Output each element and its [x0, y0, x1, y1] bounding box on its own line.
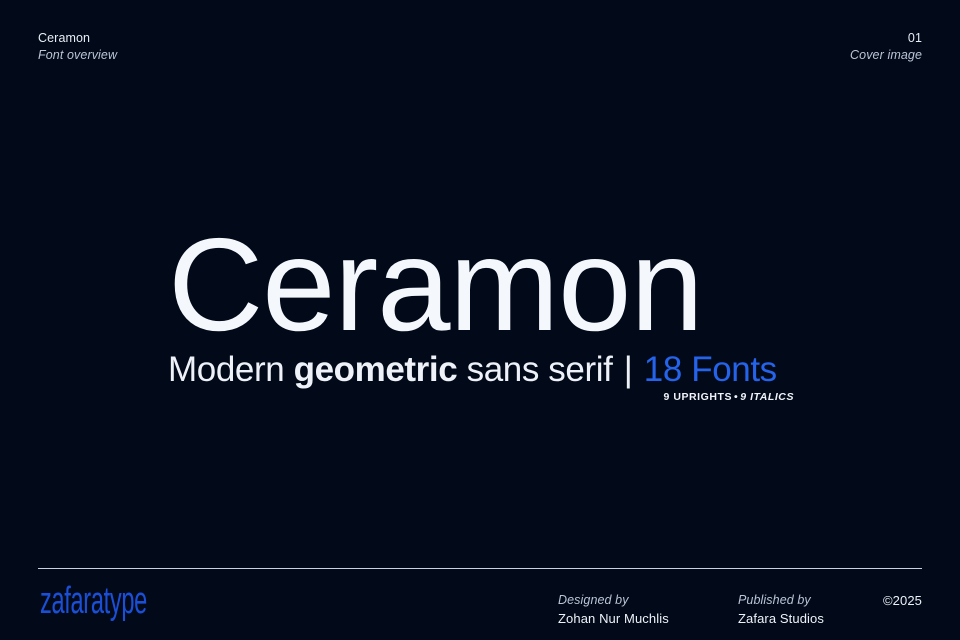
display-title: Ceramon — [168, 228, 794, 342]
header-font-subtitle: Font overview — [38, 47, 117, 64]
tagline-part2: sans serif — [457, 350, 621, 389]
credit-copyright: ©2025 — [883, 592, 922, 610]
meta-separator: • — [732, 391, 740, 403]
published-by-label: Published by — [738, 592, 883, 610]
publisher-name: Zafara Studios — [738, 610, 883, 628]
copyright-text: ©2025 — [883, 592, 922, 610]
designer-name: Zohan Nur Muchlis — [558, 610, 738, 628]
style-count-meta: 9 UPRIGHTS•9 ITALICS — [168, 391, 794, 403]
poster-canvas: Ceramon Font overview 01 Cover image Cer… — [0, 0, 960, 640]
uprights-count: 9 UPRIGHTS — [663, 391, 732, 403]
poster-header: Ceramon Font overview 01 Cover image — [38, 30, 922, 64]
zafaratype-logo[interactable]: zafaratype — [40, 582, 147, 620]
tagline-bold-word: geometric — [294, 350, 458, 389]
header-left-block: Ceramon Font overview — [38, 30, 117, 64]
page-label: Cover image — [850, 47, 922, 64]
designed-by-label: Designed by — [558, 592, 738, 610]
page-number: 01 — [850, 30, 922, 47]
poster-footer: zafaratype Designed by Zohan Nur Muchlis… — [38, 582, 922, 630]
tagline: Modern geometric sans serif | 18 Fonts — [168, 352, 794, 389]
tagline-separator: | — [622, 350, 635, 389]
tagline-font-count: 18 Fonts — [634, 350, 776, 389]
credit-designed-by: Designed by Zohan Nur Muchlis — [558, 592, 738, 628]
header-font-name: Ceramon — [38, 30, 117, 47]
header-right-block: 01 Cover image — [850, 30, 922, 64]
footer-credits: Designed by Zohan Nur Muchlis Published … — [558, 592, 922, 628]
credit-published-by: Published by Zafara Studios — [738, 592, 883, 628]
footer-divider — [38, 568, 922, 569]
hero-lockup: Ceramon Modern geometric sans serif | 18… — [168, 228, 794, 403]
tagline-part1: Modern — [168, 350, 294, 389]
italics-count: 9 ITALICS — [740, 391, 794, 403]
